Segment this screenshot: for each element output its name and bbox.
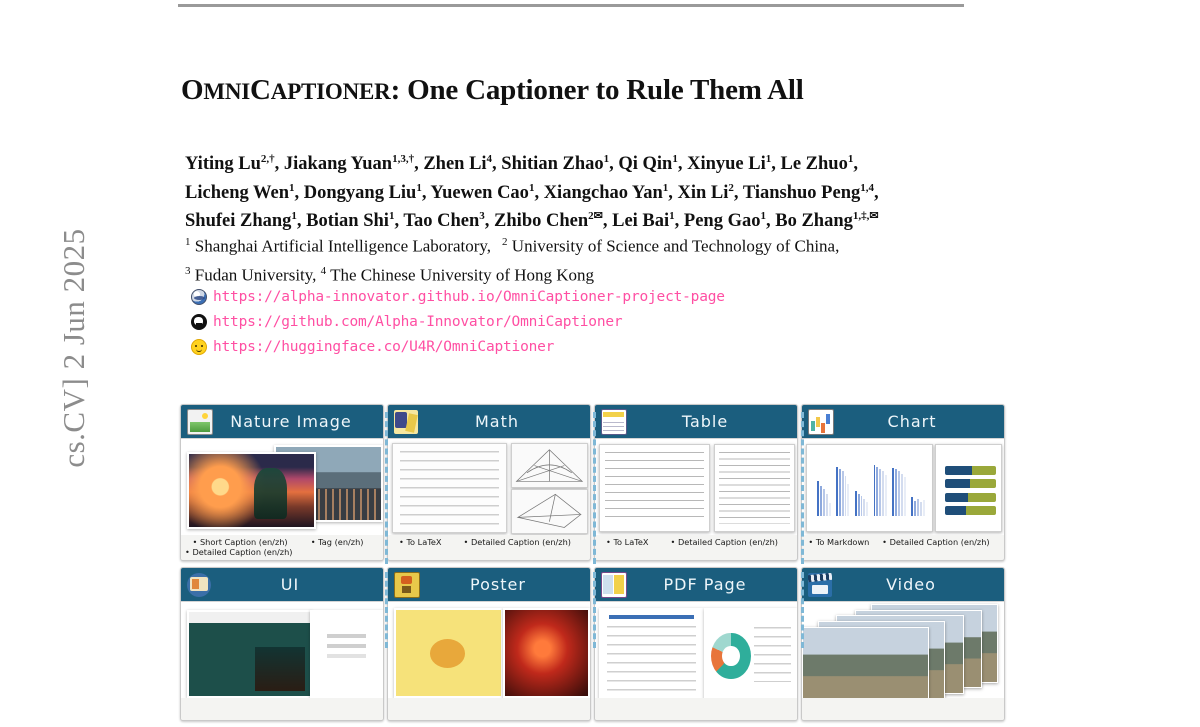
hbar-series [945,464,995,518]
author-affiliation-marker: 2 [728,182,734,194]
author-affiliation-marker: 1 [291,210,297,222]
card-captions [181,698,383,720]
arxiv-stamp: cs.CV] 2 Jun 2025 [56,178,92,518]
caption-line-2: Detailed Caption (en/zh) [185,547,379,557]
card-header: Poster [388,568,590,601]
donut-chart [711,633,750,679]
bar [885,475,887,516]
card-separator [593,572,599,648]
nature-image-art [181,439,383,535]
resource-link-url[interactable]: https://github.com/Alpha-Innovator/OmniC… [213,314,622,330]
pdf-side-lines [754,627,791,682]
author-affiliation-marker: 1,4 [860,182,874,194]
website-screenshot [187,610,312,698]
bar [879,469,881,515]
caption-line-1: Short Caption (en/zh) Tag (en/zh) [185,537,379,547]
resource-link-url[interactable]: https://huggingface.co/U4R/OmniCaptioner [213,339,554,355]
card-header: Table [595,405,797,438]
title-mni: MNI [203,79,250,104]
card-title: Video [832,575,1004,594]
capability-card-video[interactable]: Video [801,567,1005,721]
table-rows [719,452,790,525]
author: Bo Zhang1,‡,✉ [775,211,878,231]
author-affiliation-marker: 1,‡,✉ [853,210,879,222]
affiliation-marker: 4 [321,265,327,277]
card-header: PDF Page [595,568,797,601]
stacked-bar-row [945,466,995,475]
author: Lei Bai1 [612,211,675,231]
bar [842,471,844,515]
caption-tag: Short Caption (en/zh) [193,537,288,547]
author: Shitian Zhao1 [501,154,609,174]
stacked-bar-segment [968,493,996,502]
caption-line-1: To LaTeX Detailed Caption (en/zh) [599,537,793,547]
sunset-photo [187,452,316,529]
bar [839,469,841,515]
card-header: UI [181,568,383,601]
author-affiliation-marker: 1 [760,210,766,222]
card-captions: Short Caption (en/zh) Tag (en/zh) Detail… [181,535,383,560]
bar [826,494,828,516]
card-header: Chart [802,405,1004,438]
caption-tag: Tag (en/zh) [311,537,364,547]
bar [829,503,831,515]
author-affiliation-marker: 1 [669,210,675,222]
bar-group [874,460,887,515]
bar [876,467,878,516]
table-figure-2 [714,444,795,532]
title-o: O [181,74,203,106]
card-preview [181,601,383,698]
author: Botian Shi1 [306,211,394,231]
card-preview [595,601,797,698]
card-separator [593,412,599,564]
capability-card-math[interactable]: Math [387,404,591,561]
table-figure-1 [599,444,710,532]
card-title: Math [418,412,590,431]
stacked-bar-chart [935,444,1002,532]
bar [823,489,825,516]
stacked-bar-row [945,493,995,502]
affiliation-marker: 1 [185,236,191,248]
huggingface-icon [190,339,207,356]
card-preview [181,438,383,535]
author-affiliation-marker: 2,† [261,153,275,165]
author: Yiting Lu2,† [185,154,275,174]
bar [845,476,847,516]
bar [901,474,903,516]
caption-tag: Detailed Caption (en/zh) [464,537,571,547]
author: Le Zhuo1 [781,154,854,174]
card-preview [595,438,797,535]
stacked-bar-segment [945,493,967,502]
pdf-text-lines [607,626,696,691]
bar [858,494,860,516]
card-header: Nature Image [181,405,383,438]
table-rows [605,452,703,525]
stacked-bar-row [945,506,995,515]
stacked-bar-row [945,479,995,488]
stacked-bar-segment [972,466,996,475]
card-preview [388,601,590,698]
author-affiliation-marker: 1 [289,182,295,194]
movie-poster [503,608,590,698]
stacked-bar-segment [945,479,969,488]
capability-card-table[interactable]: Table To LaTeX Detailed C [594,404,798,561]
title-rest: : One Captioner to Rule Them All [391,74,804,106]
title-c: C [250,74,271,106]
bar-group [855,460,868,515]
author-affiliation-marker: 1 [604,153,610,165]
browser-window-icon [187,573,211,597]
geometry-figure-1 [511,443,588,488]
stacked-bar-segment [970,479,996,488]
card-separator [801,412,807,564]
resource-links: https://alpha-innovator.github.io/OmniCa… [190,286,725,361]
chart-art [802,439,1004,535]
resource-link[interactable]: https://alpha-innovator.github.io/OmniCa… [190,286,725,308]
pdf-chart-page [704,608,797,698]
bar [898,471,900,515]
card-title: Nature Image [213,412,383,431]
author: Dongyang Liu1 [304,183,422,203]
author-affiliation-marker: 4 [487,153,493,165]
bar [817,481,819,515]
table-art [595,439,797,535]
clapperboard-icon [808,573,832,597]
caption-tag: To Markdown [808,537,869,547]
bar-group [836,460,849,515]
video-frame [802,627,929,698]
stacked-bar-segment [966,506,996,515]
video-art [802,602,1004,698]
card-captions: To LaTeX Detailed Caption (en/zh) [388,535,590,557]
bar [892,468,894,516]
bar [863,499,865,516]
card-header: Math [388,405,590,438]
bar [904,477,906,516]
bar [920,502,922,515]
card-preview [802,601,1004,698]
affiliation-name: The Chinese University of Hong Kong [330,265,594,284]
card-title: Chart [834,412,1004,431]
bar [847,484,849,516]
author-affiliation-marker: 1 [529,182,535,194]
author: Shufei Zhang1 [185,211,297,231]
author: Zhibo Chen2✉ [494,211,603,231]
capability-row-2: UI Poster [180,567,1018,721]
paper-content: OMNICAPTIONER: One Captioner to Rule The… [180,0,1025,648]
bar [911,497,913,516]
chat-screenshot [310,610,383,698]
pdf-text-page [599,608,704,698]
resource-link[interactable]: https://huggingface.co/U4R/OmniCaptioner [190,336,725,358]
card-separator [385,412,391,564]
resource-link[interactable]: https://github.com/Alpha-Innovator/OmniC… [190,311,725,333]
calculator-ruler-icon [394,410,418,434]
author: Xiangchao Yan1 [544,183,669,203]
pdf-art [595,602,797,698]
poster-icon [394,572,420,598]
author-affiliation-marker: 1 [766,153,772,165]
grouped-bar-chart [806,444,933,532]
poster-art [388,602,590,698]
github-icon [190,314,207,331]
author: Xin Li2 [678,183,734,203]
author: Licheng Wen1 [185,183,295,203]
author: Zhen Li4 [423,154,492,174]
affiliation-name: University of Science and Technology of … [512,237,840,256]
card-captions [595,698,797,720]
geometry-figure-2 [511,489,588,534]
card-header: Video [802,568,1004,601]
card-title: UI [211,575,383,594]
bar [861,496,863,516]
card-captions: To Markdown Detailed Caption (en/zh) [802,535,1004,557]
caption-tag: To LaTeX [606,537,649,547]
author-affiliation-marker: 1 [389,210,395,222]
card-title: Poster [420,575,590,594]
bar [923,500,925,515]
author-affiliation-marker: 3 [479,210,485,222]
caption-tag: To LaTeX [399,537,442,547]
bar-group [911,460,924,515]
author-list: Yiting Lu2,†, Jiakang Yuan1,3,†, Zhen Li… [185,148,1023,234]
page-title: OMNICAPTIONER: One Captioner to Rule The… [181,74,1021,107]
capability-card-poster[interactable]: Poster [387,567,591,721]
author: Jiakang Yuan1,3,† [284,154,414,174]
math-art [388,439,590,535]
caption-line-1: To LaTeX Detailed Caption (en/zh) [392,537,586,547]
author-affiliation-marker: 2✉ [588,210,603,222]
photo-icon [187,409,213,435]
capability-grid: Nature Image Short Caption (en/zh) Tag (… [180,404,1018,727]
ui-art [181,602,383,698]
bar-series [817,460,925,515]
card-preview [388,438,590,535]
bar [820,486,822,516]
card-captions: To LaTeX Detailed Caption (en/zh) [595,535,797,557]
affiliation-name: Fudan University, [195,265,317,284]
infographic-poster [394,608,503,698]
author: Tianshuo Peng1,4 [743,183,874,203]
bar [895,469,897,515]
card-title: Table [627,412,797,431]
capability-row-1: Nature Image Short Caption (en/zh) Tag (… [180,404,1018,561]
bar-group [817,460,830,515]
bar-chart-icon [808,409,834,435]
capability-card-nature-image[interactable]: Nature Image Short Caption (en/zh) Tag (… [180,404,384,561]
author: Xinyue Li1 [687,154,771,174]
card-separator [385,572,391,648]
bar [882,471,884,515]
card-separator [801,572,807,648]
bar [874,465,876,516]
bar [914,501,916,515]
resource-link-url[interactable]: https://alpha-innovator.github.io/OmniCa… [213,289,725,305]
formula-lines [400,451,500,525]
stacked-bar-segment [945,506,965,515]
caption-line-1: To Markdown Detailed Caption (en/zh) [806,537,1000,547]
caption-tag: Detailed Caption (en/zh) [185,547,292,557]
globe-icon [190,289,207,306]
bar-group [892,460,905,515]
author-affiliation-marker: 1 [663,182,669,194]
caption-tag: Detailed Caption (en/zh) [671,537,778,547]
bar [836,467,838,516]
card-captions [388,698,590,720]
author: Yuewen Cao1 [430,183,534,203]
author: Tao Chen3 [403,211,484,231]
author: Peng Gao1 [684,211,766,231]
affiliation-list: 1 Shanghai Artificial Intelligence Labor… [185,230,1023,287]
capability-card-pdf-page[interactable]: PDF Page [594,567,798,721]
card-preview [802,438,1004,535]
caption-tag: Detailed Caption (en/zh) [882,537,989,547]
capability-card-ui[interactable]: UI [180,567,384,721]
stacked-bar-segment [945,466,971,475]
affiliation-marker: 2 [502,236,508,248]
title-aptioner: APTIONER [271,79,391,104]
bar [855,491,857,515]
bar [917,499,919,516]
pdf-document-icon [601,572,627,598]
author-affiliation-marker: 1,3,† [392,153,414,165]
author-affiliation-marker: 1 [672,153,678,165]
author-affiliation-marker: 1 [416,182,422,194]
formula-sheet [392,443,507,533]
bar [866,502,868,515]
card-title: PDF Page [627,575,797,594]
affiliation-marker: 3 [185,265,191,277]
spreadsheet-icon [601,409,627,435]
affiliation-name: Shanghai Artificial Intelligence Laborat… [195,237,491,256]
card-captions [802,698,1004,720]
author: Qi Qin1 [618,154,677,174]
capability-card-chart[interactable]: Chart To Markdown Detaile [801,404,1005,561]
author-affiliation-marker: 1 [848,153,854,165]
